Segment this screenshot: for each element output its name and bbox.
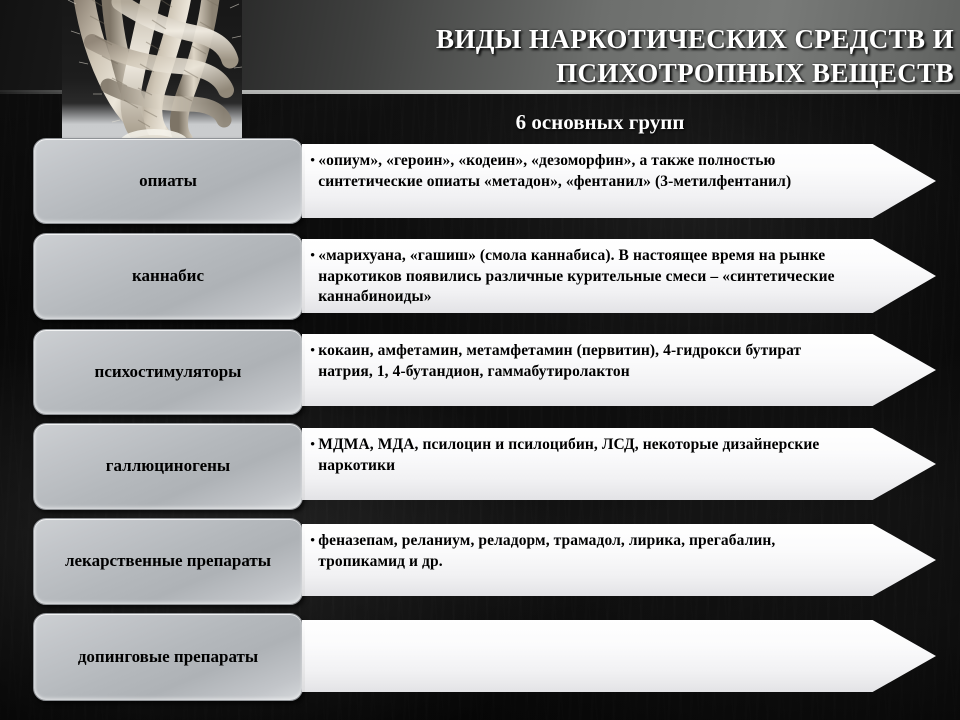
- arrow-banner-doping-drugs[interactable]: [302, 620, 936, 692]
- category-label: лекарственные препараты: [65, 551, 271, 572]
- group-description: кокаин, амфетамин, метамфетамин (первити…: [318, 341, 840, 382]
- category-plate-doping-drugs[interactable]: допинговые препараты: [33, 613, 303, 701]
- category-label: каннабис: [132, 266, 204, 287]
- category-plate-hallucinogens[interactable]: галлюциногены: [33, 423, 303, 510]
- arrow-banner-opiates[interactable]: • «опиум», «героин», «кодеин», «дезоморф…: [302, 144, 936, 218]
- category-plate-cannabis[interactable]: каннабис: [33, 233, 303, 320]
- group-row-1: опиаты • «опиум», «героин», «кодеин», «д…: [0, 138, 960, 224]
- arrow-banner-medicinal-drugs[interactable]: • феназепам, реланиум, реладорм, трамадо…: [302, 524, 936, 596]
- category-plate-medicinal-drugs[interactable]: лекарственные препараты: [33, 518, 303, 605]
- category-plate-psychostimulants[interactable]: психостимуляторы: [33, 329, 303, 415]
- group-row-6: допинговые препараты: [0, 613, 960, 701]
- arrow-banner-cannabis[interactable]: • «марихуана, «гашиш» (смола каннабиса).…: [302, 239, 936, 313]
- group-row-2: каннабис • «марихуана, «гашиш» (смола ка…: [0, 233, 960, 320]
- group-description: МДМА, МДА, псилоцин и псилоцибин, ЛСД, н…: [318, 435, 840, 476]
- page-title-line-2: ПСИХОТРОПНЫХ ВЕЩЕСТВ: [300, 56, 954, 90]
- bullet-icon: •: [310, 151, 318, 172]
- page-title-line-1: ВИДЫ НАРКОТИЧЕСКИХ СРЕДСТВ И: [436, 24, 954, 54]
- category-label: галлюциногены: [106, 456, 230, 477]
- group-description: «марихуана, «гашиш» (смола каннабиса). В…: [318, 246, 840, 308]
- page-title: ВИДЫ НАРКОТИЧЕСКИХ СРЕДСТВ И ПСИХОТРОПНЫ…: [300, 22, 960, 90]
- group-description: феназепам, реланиум, реладорм, трамадол,…: [318, 531, 840, 572]
- category-label: допинговые препараты: [78, 647, 258, 668]
- group-row-4: галлюциногены • МДМА, МДА, псилоцин и пс…: [0, 423, 960, 510]
- group-description: «опиум», «героин», «кодеин», «дезоморфин…: [318, 151, 840, 192]
- bullet-icon: •: [310, 341, 318, 362]
- slide-root: ВИДЫ НАРКОТИЧЕСКИХ СРЕДСТВ И ПСИХОТРОПНЫ…: [0, 0, 960, 720]
- arrow-banner-hallucinogens[interactable]: • МДМА, МДА, псилоцин и псилоцибин, ЛСД,…: [302, 428, 936, 500]
- subtitle: 6 основных групп: [300, 110, 900, 135]
- bullet-icon: •: [310, 531, 318, 552]
- category-label: опиаты: [139, 171, 197, 192]
- bullet-icon: •: [310, 246, 318, 267]
- arrow-banner-psychostimulants[interactable]: • кокаин, амфетамин, метамфетамин (перви…: [302, 334, 936, 406]
- bullet-icon: [302, 620, 305, 621]
- category-label: психостимуляторы: [95, 362, 242, 383]
- bullet-icon: •: [310, 435, 318, 456]
- category-plate-opiates[interactable]: опиаты: [33, 138, 303, 224]
- group-row-5: лекарственные препараты • феназепам, рел…: [0, 518, 960, 605]
- group-row-3: психостимуляторы • кокаин, амфетамин, ме…: [0, 329, 960, 415]
